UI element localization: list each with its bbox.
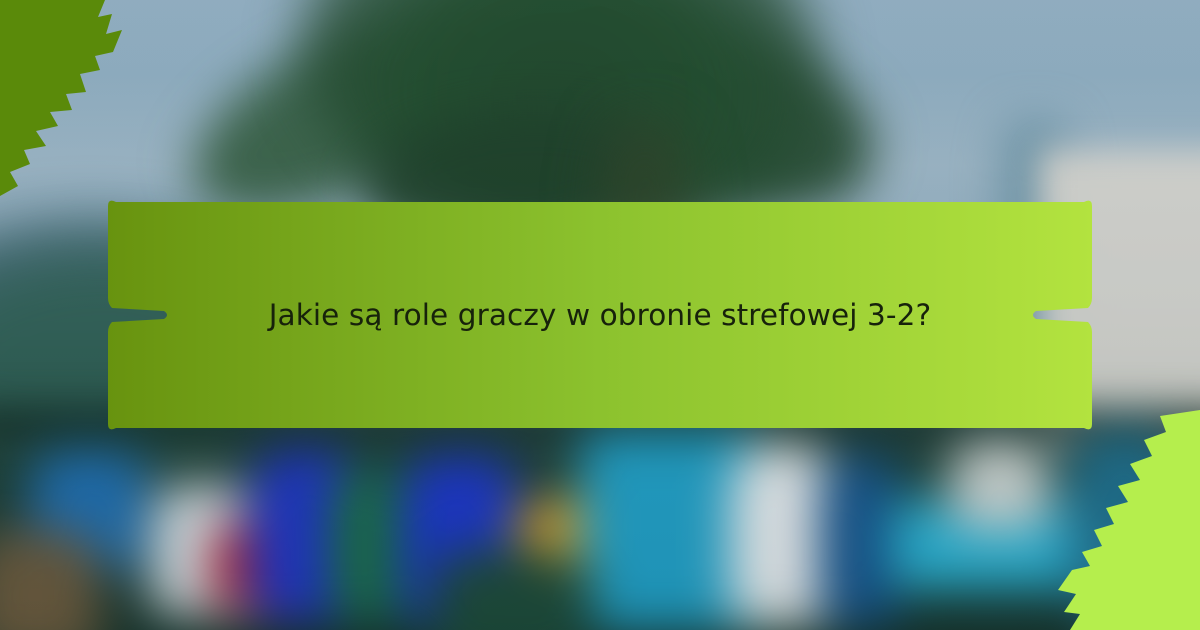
crowd-blob [430,550,590,630]
crowd-band [0,410,1200,630]
ribbon-banner: Jakie są role graczy w obronie strefowej… [108,198,1092,432]
crowd-blob [1100,530,1200,630]
crowd-blob [0,530,100,630]
crowd-blob [820,455,900,625]
crowd-blob [950,440,1050,530]
banner-title: Jakie są role graczy w obronie strefowej… [108,198,1092,432]
share-card: Jakie są role graczy w obronie strefowej… [0,0,1200,630]
